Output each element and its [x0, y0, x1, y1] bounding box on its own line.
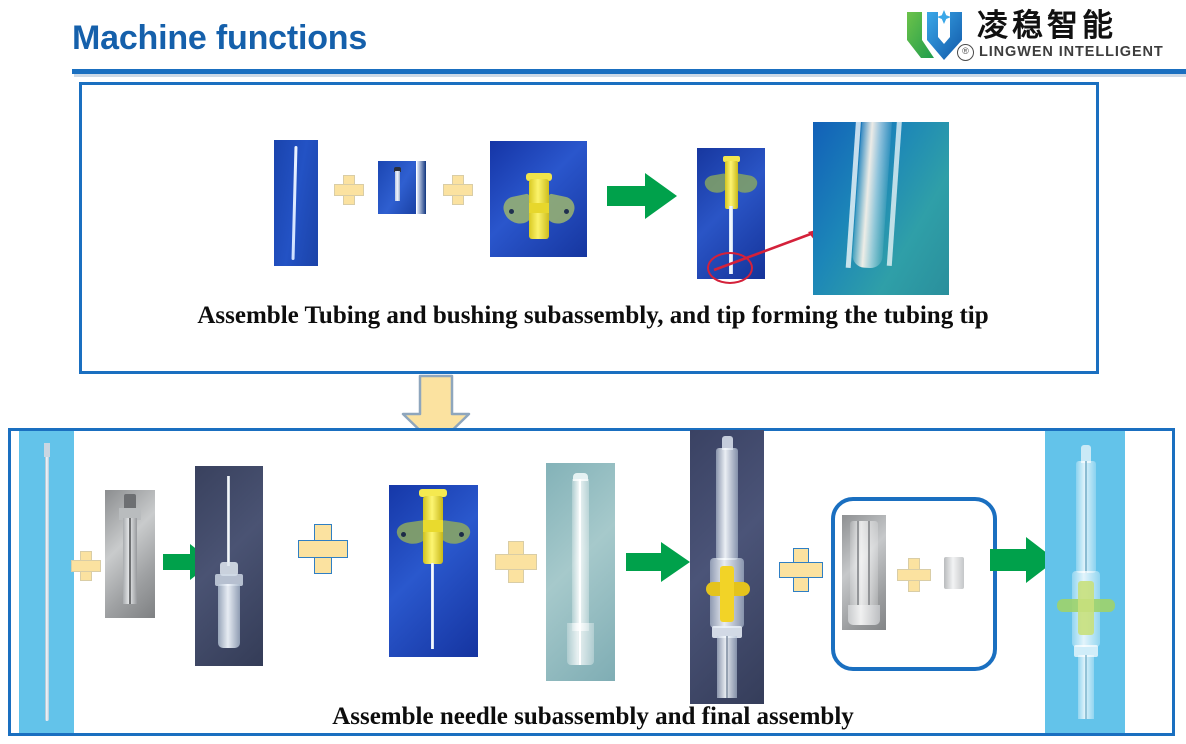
green-arrow — [626, 540, 690, 584]
needle-subassembly-photo — [195, 466, 263, 666]
slide-root: Machine functions ® 凌稳智能 LINGWEN INTELLI… — [0, 0, 1186, 744]
winged-connector-photo — [490, 141, 587, 257]
plus-operator — [298, 524, 348, 574]
logo-company-name-cn: 凌稳智能 — [977, 8, 1117, 44]
page-title: Machine functions — [72, 20, 367, 57]
tubing-strip-photo — [274, 140, 318, 266]
section-top-caption: Assemble Tubing and bushing subassembly,… — [0, 302, 1186, 330]
white-plug-photo — [944, 557, 964, 589]
registered-trademark-icon: ® — [957, 44, 974, 61]
main-assembly-photo — [690, 430, 764, 704]
final-product-photo — [1045, 431, 1125, 733]
plus-operator — [897, 558, 931, 592]
tip-detail-photo — [813, 122, 949, 295]
callout-arrow-icon — [712, 226, 824, 274]
title-rule — [72, 69, 1186, 74]
plus-operator — [779, 548, 823, 592]
logo-company-name-en: LINGWEN INTELLIGENT — [979, 44, 1164, 60]
needle-hub-photo — [105, 490, 155, 618]
plus-operator — [443, 175, 473, 205]
protector-cap-photo — [842, 515, 886, 630]
plus-operator — [334, 175, 364, 205]
bushing-photo — [378, 161, 416, 214]
title-rule-shadow — [74, 74, 1186, 77]
section-bottom-caption: Assemble needle subassembly and final as… — [0, 703, 1186, 731]
winged-catheter-photo — [389, 485, 478, 657]
bushing-photo-edge — [417, 161, 426, 214]
company-logo: ® 凌稳智能 LINGWEN INTELLIGENT — [905, 8, 1177, 66]
plus-operator — [495, 541, 537, 583]
clear-sheath-photo — [546, 463, 615, 681]
green-arrow — [607, 171, 677, 221]
needle-photo — [19, 431, 74, 733]
plus-operator — [71, 551, 101, 581]
